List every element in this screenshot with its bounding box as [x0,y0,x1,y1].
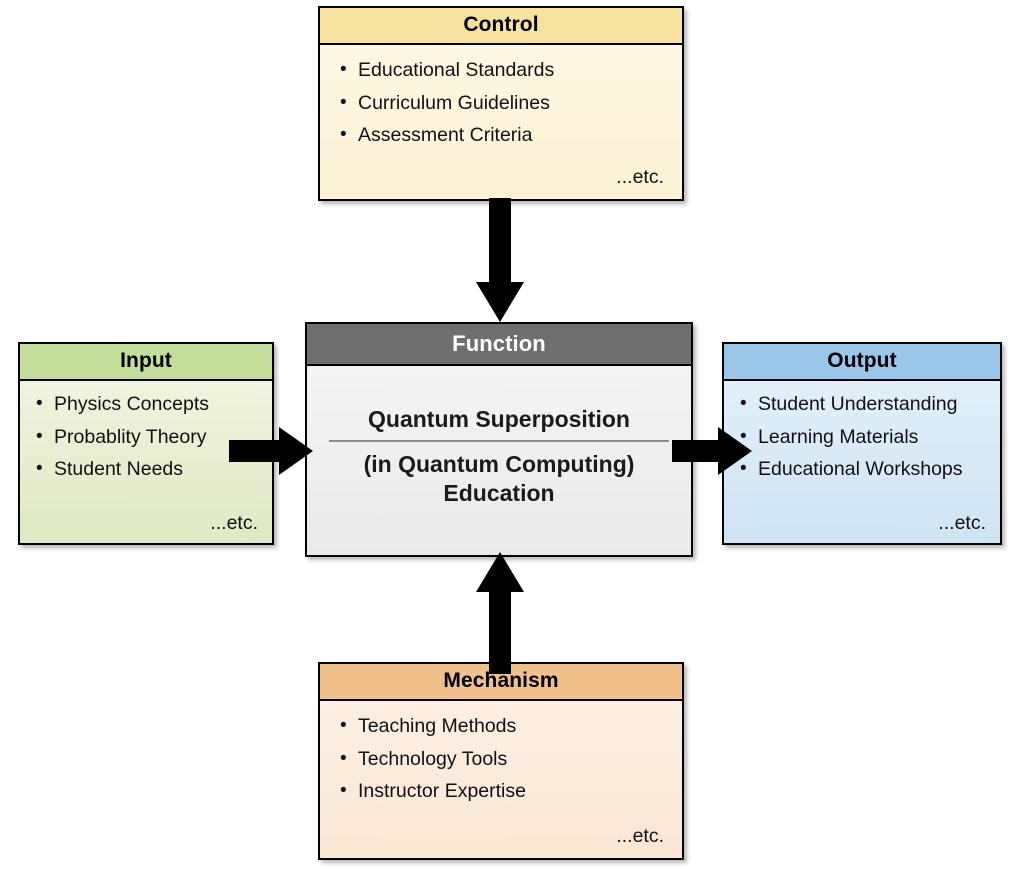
list-item: Educational Workshops [736,460,988,480]
list-item: Technology Tools [336,750,666,770]
list-item: Probablity Theory [32,428,260,448]
list-item: Physics Concepts [32,395,260,415]
idef0-diagram-canvas: Control Educational Standards Curriculum… [0,0,1024,869]
output-box-title: Output [724,344,1000,381]
output-box: Output Student Understanding Learning Ma… [722,342,1002,545]
arrow-right-input-to-function-icon [229,424,315,478]
control-item-list: Educational Standards Curriculum Guideli… [336,61,666,159]
mechanism-box: Mechanism Teaching Methods Technology To… [318,662,684,860]
function-box: Function Quantum Superposition (in Quant… [305,322,693,557]
function-box-title: Function [307,324,691,366]
function-domain: Education [323,479,675,508]
arrow-right-function-to-output-icon [672,424,754,478]
input-box-title: Input [20,344,272,381]
mechanism-etc-label: ...etc. [336,825,666,850]
arrow-up-mechanism-to-function-icon [468,552,532,674]
output-item-list: Student Understanding Learning Materials… [736,395,988,493]
list-item: Instructor Expertise [336,782,666,802]
function-box-body: Quantum Superposition (in Quantum Comput… [307,366,691,555]
control-box-body: Educational Standards Curriculum Guideli… [320,45,682,199]
output-box-body: Student Understanding Learning Materials… [724,381,1000,543]
input-item-list: Physics Concepts Probablity Theory Stude… [32,395,260,493]
list-item: Assessment Criteria [336,126,666,146]
control-box: Control Educational Standards Curriculum… [318,6,684,201]
list-item: Teaching Methods [336,717,666,737]
function-divider-rule [329,440,669,442]
control-box-title: Control [320,8,682,45]
list-item: Educational Standards [336,61,666,81]
mechanism-box-body: Teaching Methods Technology Tools Instru… [320,701,682,858]
mechanism-item-list: Teaching Methods Technology Tools Instru… [336,717,666,815]
function-context: (in Quantum Computing) [323,450,675,479]
input-etc-label: ...etc. [32,512,260,537]
output-etc-label: ...etc. [736,512,988,537]
arrow-down-control-to-function-icon [468,198,532,326]
function-text-stack: Quantum Superposition (in Quantum Comput… [307,406,691,508]
list-item: Student Understanding [736,395,988,415]
control-etc-label: ...etc. [336,166,666,191]
list-item: Curriculum Guidelines [336,94,666,114]
function-name: Quantum Superposition [323,406,675,440]
list-item: Learning Materials [736,428,988,448]
list-item: Student Needs [32,460,260,480]
